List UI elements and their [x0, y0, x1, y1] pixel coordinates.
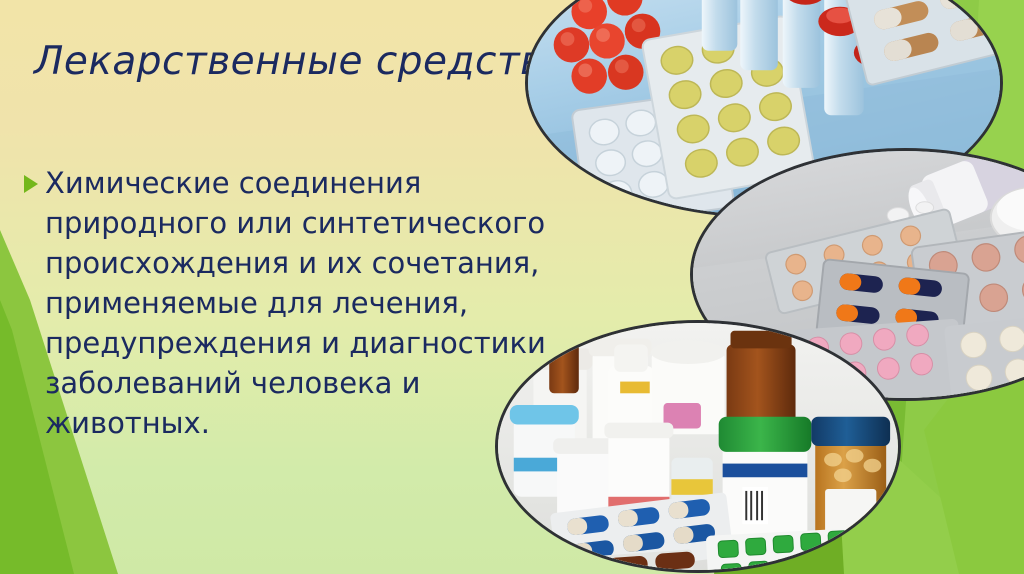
bullet-paragraph: Химические соединения природного или син…	[24, 163, 584, 443]
body-paragraph-text: Химические соединения природного или син…	[45, 163, 584, 443]
oval-bottles-image	[495, 320, 901, 573]
triangle-right-bullet-icon	[24, 175, 38, 193]
presentation-slide: Лекарственные средства Химические соедин…	[0, 0, 1024, 574]
